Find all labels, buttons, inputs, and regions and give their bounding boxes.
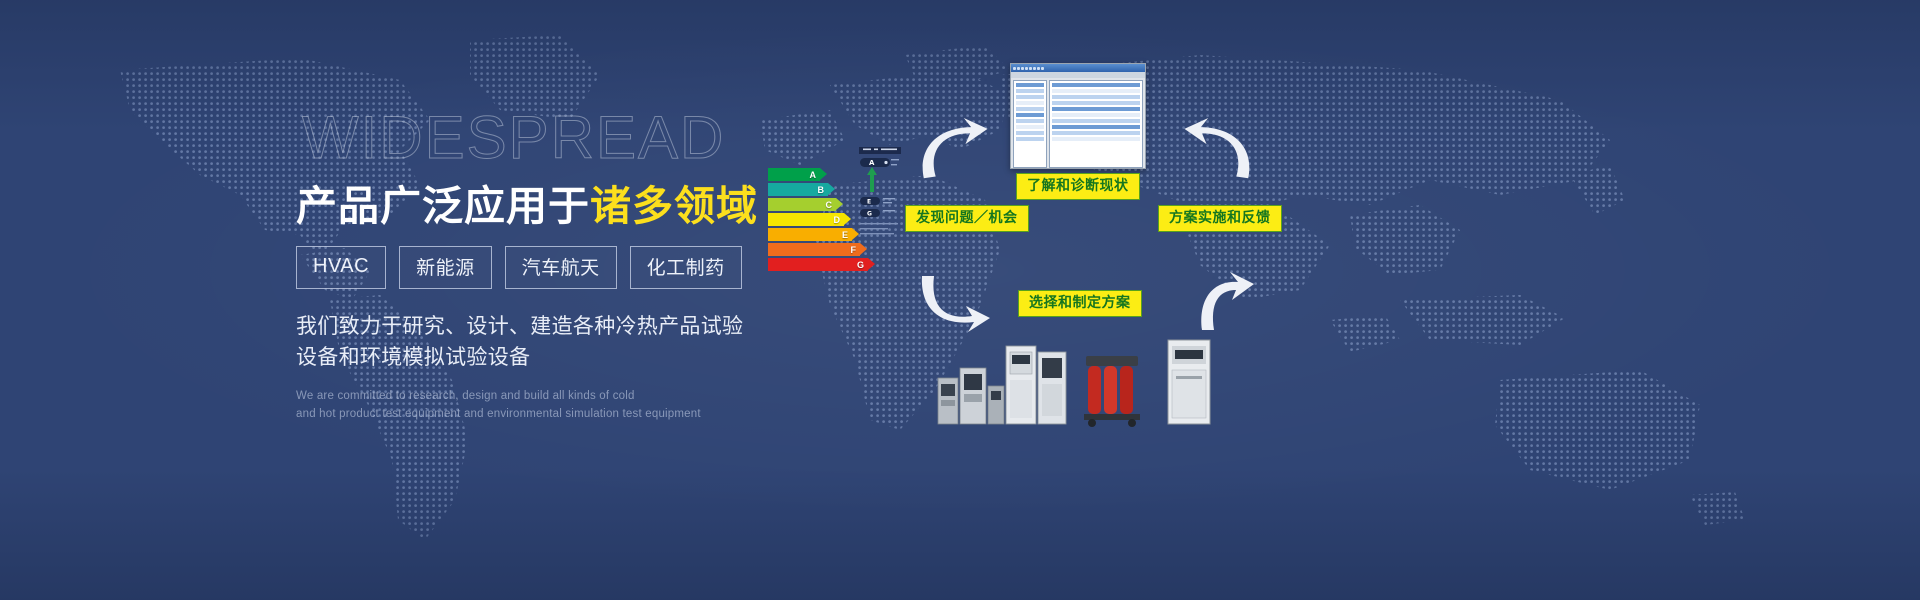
badge-discover[interactable]: 发现问题／机会 (905, 205, 1029, 232)
description-line-1: 我们致力于研究、设计、建造各种冷热产品试验 (296, 311, 766, 341)
english-subtitle: We are committed to research, design and… (296, 388, 766, 424)
curved-arrow-up-right-bottom-icon (1180, 268, 1258, 334)
energy-bar-d: D (768, 213, 844, 226)
energy-label-detail: A E G (855, 145, 905, 255)
ghost-heading: WIDESPREAD (302, 108, 766, 168)
window-body (1011, 78, 1145, 169)
tag-automotive-aerospace[interactable]: 汽车航天 (505, 246, 617, 289)
curved-arrow-down-right-icon (912, 270, 992, 334)
badge-implement[interactable]: 方案实施和反馈 (1158, 205, 1282, 232)
english-line-1: We are committed to research, design and… (296, 388, 766, 406)
curved-arrow-up-right-icon (912, 118, 992, 180)
energy-bar-c: C (768, 198, 836, 211)
energy-grade-e: E (842, 230, 852, 240)
hero-banner: WIDESPREAD 产品广泛应用于诸多领域 HVAC 新能源 汽车航天 化工制… (0, 0, 1920, 600)
hero-text-block: WIDESPREAD 产品广泛应用于诸多领域 HVAC 新能源 汽车航天 化工制… (296, 108, 766, 424)
energy-grade-c: C (826, 200, 837, 210)
software-screenshot (1010, 63, 1146, 169)
tag-chemical-pharma[interactable]: 化工制药 (630, 246, 742, 289)
energy-bar-e: E (768, 228, 852, 241)
page-title: 产品广泛应用于诸多领域 (296, 184, 766, 228)
energy-grade-g: G (857, 260, 868, 270)
energy-bar-g: G (768, 258, 868, 271)
description-line-2: 设备和环境模拟试验设备 (296, 342, 766, 372)
headline-yellow-part: 诸多领域 (590, 182, 758, 230)
energy-grade-b: B (818, 185, 829, 195)
window-titlebar (1011, 64, 1145, 72)
energy-bar-f: F (768, 243, 860, 256)
badge-plan[interactable]: 选择和制定方案 (1018, 290, 1142, 317)
category-tag-list: HVAC 新能源 汽车航天 化工制药 (296, 246, 766, 289)
product-photos (936, 338, 1236, 428)
energy-bar-a: A (768, 168, 820, 181)
tag-hvac[interactable]: HVAC (296, 246, 386, 289)
svg-text:A: A (869, 159, 875, 167)
svg-text:G: G (867, 211, 872, 218)
badge-diagnose[interactable]: 了解和诊断现状 (1016, 173, 1140, 200)
headline-white-part: 产品广泛应用于 (296, 182, 590, 230)
window-right-pane (1049, 80, 1143, 168)
energy-grade-d: D (834, 215, 845, 225)
english-line-2: and hot product test equipment and envir… (296, 406, 766, 424)
energy-bar-b: B (768, 183, 828, 196)
energy-grade-a: A (810, 170, 821, 180)
svg-text:E: E (867, 199, 871, 206)
tag-new-energy[interactable]: 新能源 (399, 246, 492, 289)
curved-arrow-up-left-icon (1180, 118, 1260, 180)
description-text: 我们致力于研究、设计、建造各种冷热产品试验 设备和环境模拟试验设备 (296, 311, 766, 372)
cycle-diagram: A B C D E F G A E G (760, 40, 1920, 560)
window-left-pane (1013, 80, 1047, 168)
